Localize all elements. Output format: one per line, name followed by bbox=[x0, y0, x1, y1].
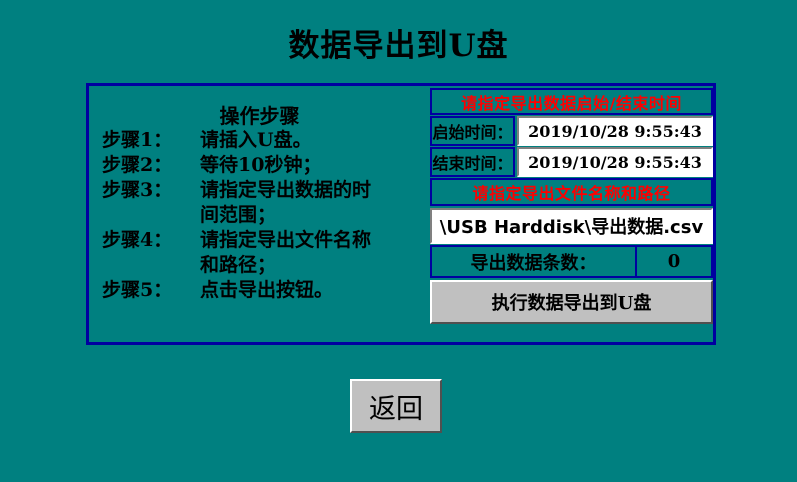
start-time-row: 启始时间： 2019/10/28 9:55:43 bbox=[430, 116, 713, 146]
end-time-row: 结束时间： 2019/10/28 9:55:43 bbox=[430, 147, 713, 177]
back-button[interactable]: 返回 bbox=[350, 379, 442, 433]
time-range-header: 请指定导出数据启始/结束时间 bbox=[430, 88, 713, 115]
start-time-label: 启始时间： bbox=[430, 116, 515, 146]
file-path-header: 请指定导出文件名称和路径 bbox=[430, 178, 713, 206]
instruction-step-5: 步骤5： 点击导出按钮。 bbox=[89, 278, 430, 303]
file-path-input[interactable]: \USB Harddisk\导出数据.csv bbox=[430, 208, 713, 244]
step-label: 步骤1： bbox=[102, 128, 200, 153]
instruction-step-2: 步骤2： 等待10秒钟； bbox=[89, 153, 430, 178]
instructions-heading: 操作步骤 bbox=[89, 104, 430, 128]
main-panel: 操作步骤 步骤1： 请插入U盘。 步骤2： 等待10秒钟； 步骤3： 请指定导出… bbox=[86, 83, 716, 345]
step-label: 步骤4： bbox=[102, 228, 200, 278]
page-title: 数据导出到U盘 bbox=[0, 27, 797, 65]
instruction-step-4: 步骤4： 请指定导出文件名称 和路径； bbox=[89, 228, 430, 278]
export-count-label: 导出数据条数： bbox=[430, 245, 637, 278]
step-text: 请指定导出文件名称 和路径； bbox=[200, 228, 430, 278]
end-time-input[interactable]: 2019/10/28 9:55:43 bbox=[517, 147, 713, 177]
step-text: 点击导出按钮。 bbox=[200, 278, 430, 303]
controls-panel: 请指定导出数据启始/结束时间 启始时间： 2019/10/28 9:55:43 … bbox=[430, 86, 713, 342]
step-text: 等待10秒钟； bbox=[200, 153, 430, 178]
step-label: 步骤3： bbox=[102, 178, 200, 228]
step-text: 请指定导出数据的时 间范围； bbox=[200, 178, 430, 228]
export-to-usb-button[interactable]: 执行数据导出到U盘 bbox=[430, 280, 713, 324]
end-time-label: 结束时间： bbox=[430, 147, 515, 177]
start-time-input[interactable]: 2019/10/28 9:55:43 bbox=[517, 116, 713, 146]
export-count-value: 0 bbox=[637, 245, 713, 278]
step-label: 步骤5： bbox=[102, 278, 200, 303]
instructions-panel: 操作步骤 步骤1： 请插入U盘。 步骤2： 等待10秒钟； 步骤3： 请指定导出… bbox=[89, 86, 430, 342]
instruction-step-1: 步骤1： 请插入U盘。 bbox=[89, 128, 430, 153]
step-text: 请插入U盘。 bbox=[200, 128, 430, 153]
export-count-row: 导出数据条数： 0 bbox=[430, 245, 713, 278]
instruction-step-3: 步骤3： 请指定导出数据的时 间范围； bbox=[89, 178, 430, 228]
step-label: 步骤2： bbox=[102, 153, 200, 178]
